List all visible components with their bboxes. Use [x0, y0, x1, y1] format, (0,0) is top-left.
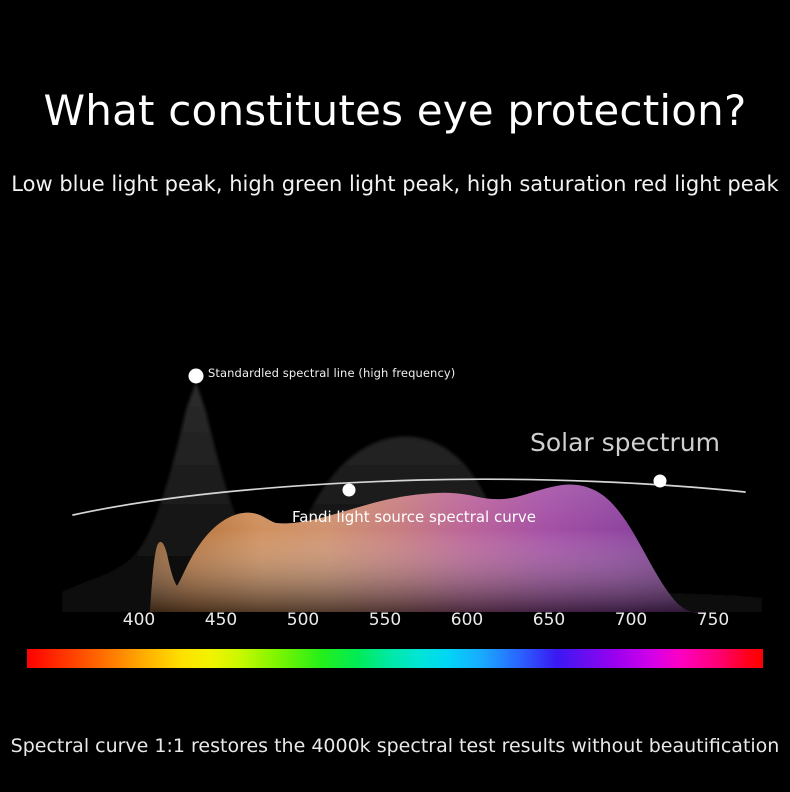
marker-dot-fandi-curve: [343, 484, 356, 497]
fandi-spectral-curve-area: [150, 484, 700, 613]
axis-tick-400: 400: [123, 610, 155, 630]
page-title: What constitutes eye protection?: [0, 88, 790, 134]
axis-tick-600: 600: [451, 610, 483, 630]
marker-dot-solar: [654, 475, 667, 488]
axis-tick-700: 700: [615, 610, 647, 630]
axis-tick-450: 450: [205, 610, 237, 630]
axis-tick-550: 550: [369, 610, 401, 630]
axis-tick-650: 650: [533, 610, 565, 630]
spectral-chart: [0, 330, 790, 620]
axis-tick-750: 750: [697, 610, 729, 630]
marker-dot-standard-led: [189, 369, 204, 384]
page-subtitle: Low blue light peak, high green light pe…: [0, 172, 790, 196]
footer-caption: Spectral curve 1:1 restores the 4000k sp…: [0, 735, 790, 757]
wavelength-axis: 400 450 500 550 600 650 700 750: [0, 610, 790, 636]
visible-spectrum-bar: [27, 649, 763, 668]
slide-canvas: What constitutes eye protection? Low blu…: [0, 0, 790, 792]
axis-tick-500: 500: [287, 610, 319, 630]
